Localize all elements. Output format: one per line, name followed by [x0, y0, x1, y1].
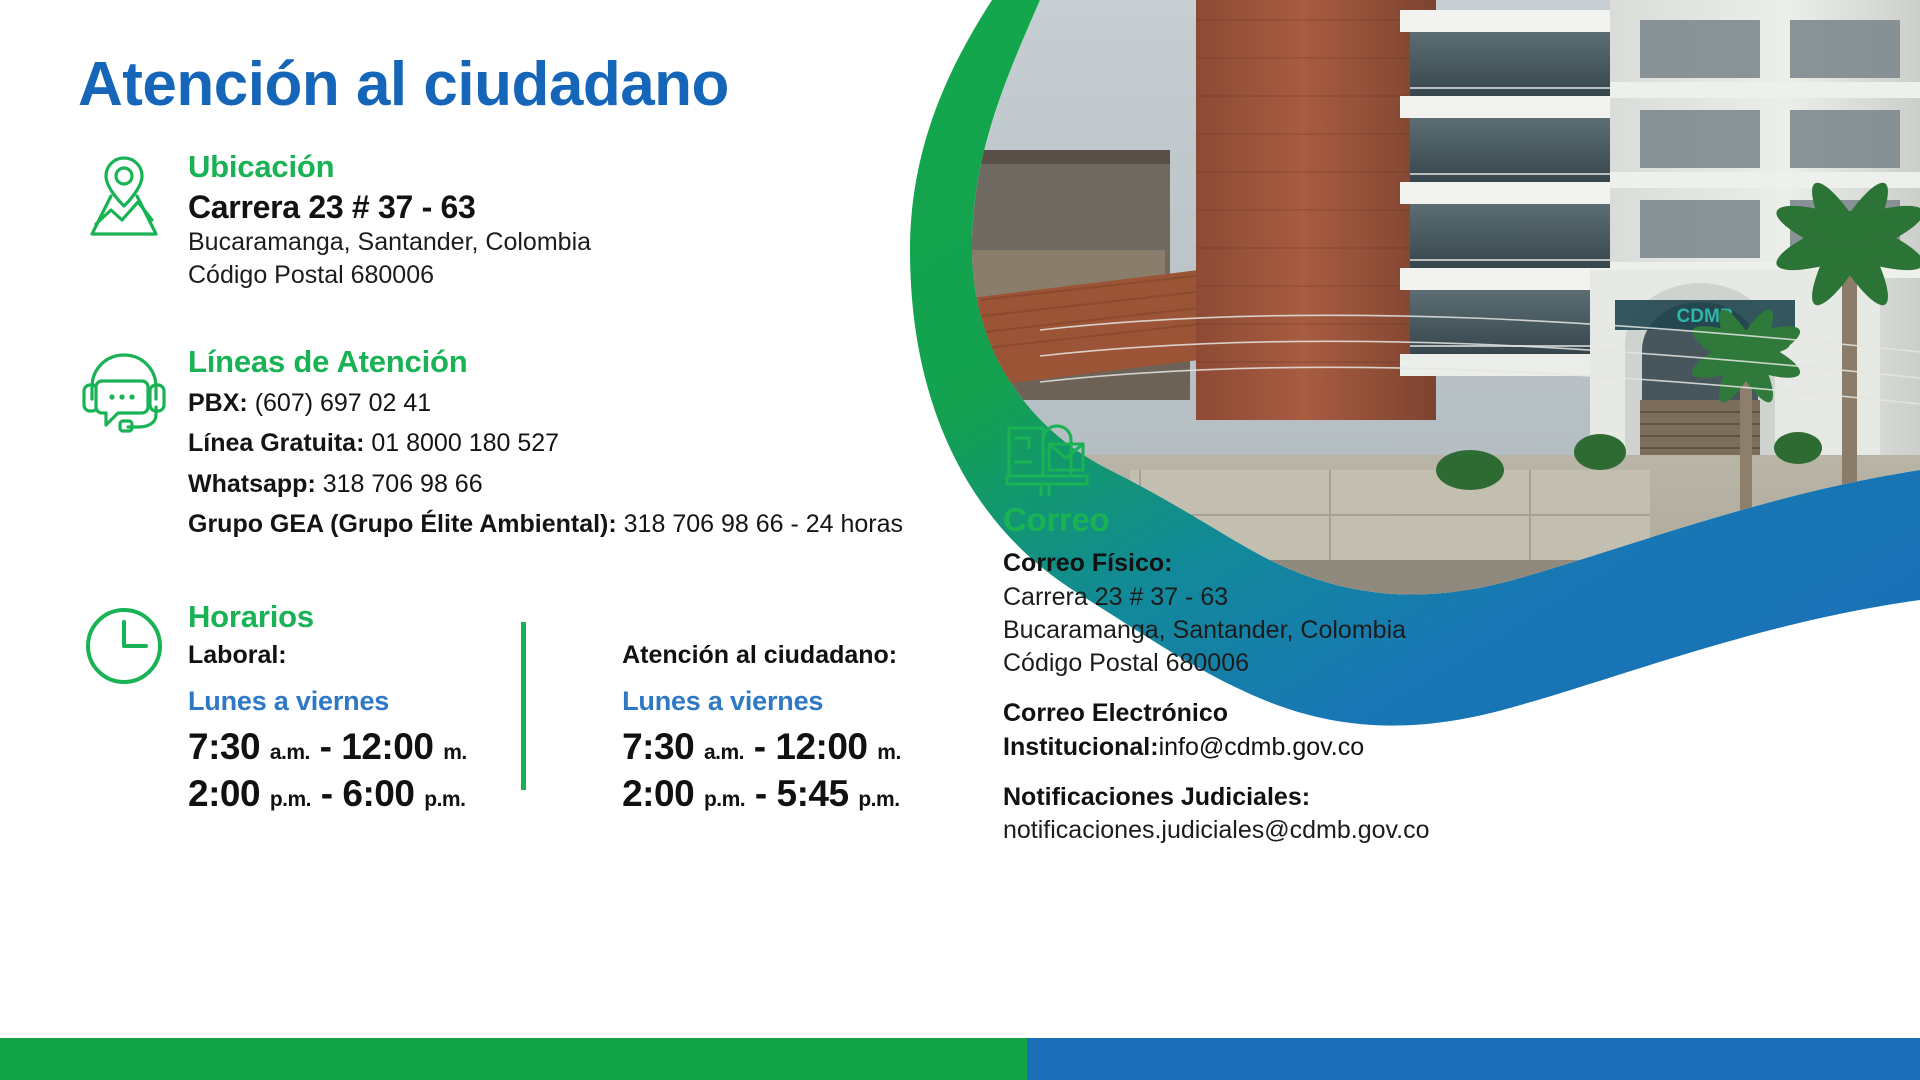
- correo-heading: Correo: [1003, 502, 1563, 538]
- time-start: 2:00: [622, 773, 694, 814]
- ubicacion-heading: Ubicación: [188, 150, 938, 185]
- linea-item: Whatsapp: 318 706 98 66: [188, 464, 1078, 505]
- time-start-meridiem: a.m.: [704, 741, 744, 764]
- linea-label: Grupo GEA (Grupo Élite Ambiental):: [188, 510, 617, 538]
- lineas-heading: Líneas de Atención: [188, 345, 1078, 380]
- linea-item: PBX: (607) 697 02 41: [188, 383, 1078, 424]
- horarios-heading: Horarios: [188, 600, 1018, 635]
- bottom-bar-green: [0, 1038, 1027, 1080]
- bottom-bar-blue: [1027, 1038, 1920, 1080]
- time-end: 6:00: [342, 773, 414, 814]
- correo-electronico-value[interactable]: info@cdmb.gov.co: [1159, 733, 1365, 761]
- time-start: 2:00: [188, 773, 260, 814]
- time-end: 5:45: [777, 773, 849, 814]
- correo-fisico-postal: Código Postal 680006: [1003, 647, 1563, 680]
- time-dash: -: [320, 726, 332, 767]
- linea-value: 318 706 98 66 - 24 horas: [624, 510, 903, 538]
- time-start-meridiem: p.m.: [704, 788, 745, 811]
- time-dash: -: [754, 726, 766, 767]
- time-end-meridiem: p.m.: [858, 788, 899, 811]
- content-layer: Atención al ciudadano Ubicación Carrera …: [0, 0, 1920, 1038]
- correo-electronico-sublabel: Institucional:: [1003, 733, 1159, 761]
- time-dash: -: [321, 773, 333, 814]
- spacer: [1003, 764, 1563, 781]
- map-pin-icon: [78, 150, 170, 242]
- correo-fisico-address: Carrera 23 # 37 - 63: [1003, 581, 1563, 614]
- horario-column-laboral: Laboral: Lunes a viernes 7:30 a.m. - 12:…: [188, 641, 562, 818]
- horario-days: Lunes a viernes: [188, 686, 562, 717]
- poster-root: CDMB: [0, 0, 1920, 1080]
- time-end: 12:00: [341, 726, 433, 767]
- horario-row: 7:30 a.m. - 12:00 m.: [622, 723, 1018, 770]
- bottom-bar: [0, 1038, 1920, 1080]
- ubicacion-postal: Código Postal 680006: [188, 259, 938, 292]
- page-title: Atención al ciudadano: [78, 52, 729, 117]
- ubicacion-city: Bucaramanga, Santander, Colombia: [188, 226, 938, 259]
- time-start-meridiem: a.m.: [270, 741, 310, 764]
- horario-row: 2:00 p.m. - 5:45 p.m.: [622, 770, 1018, 817]
- time-dash: -: [755, 773, 767, 814]
- correo-electronico-label: Correo Electrónico: [1003, 697, 1563, 730]
- time-start: 7:30: [622, 726, 694, 767]
- linea-label: Línea Gratuita:: [188, 429, 364, 457]
- time-end-meridiem: p.m.: [424, 788, 465, 811]
- horario-days: Lunes a viernes: [622, 686, 1018, 717]
- time-start: 7:30: [188, 726, 260, 767]
- section-horarios: Horarios Laboral: Lunes a viernes 7:30 a…: [78, 600, 1018, 817]
- time-end: 12:00: [775, 726, 867, 767]
- correo-electronico-row: Institucional:info@cdmb.gov.co: [1003, 731, 1563, 764]
- correo-fisico-city: Bucaramanga, Santander, Colombia: [1003, 614, 1563, 647]
- linea-value: (607) 697 02 41: [255, 389, 432, 417]
- linea-item: Línea Gratuita: 01 8000 180 527: [188, 423, 1078, 464]
- spacer: [1003, 680, 1563, 697]
- section-correo: Correo Correo Físico: Carrera 23 # 37 - …: [1003, 418, 1563, 847]
- notificaciones-value[interactable]: notificaciones.judiciales@cdmb.gov.co: [1003, 814, 1563, 847]
- horario-row: 2:00 p.m. - 6:00 p.m.: [188, 770, 562, 817]
- section-lineas-atencion: Líneas de Atención PBX: (607) 697 02 41 …: [78, 345, 1078, 545]
- linea-item: Grupo GEA (Grupo Élite Ambiental): 318 7…: [188, 504, 1078, 545]
- clock-icon: [78, 600, 170, 692]
- notificaciones-label: Notificaciones Judiciales:: [1003, 781, 1563, 814]
- correo-fisico-label: Correo Físico:: [1003, 547, 1563, 580]
- linea-label: Whatsapp:: [188, 470, 316, 498]
- linea-value: 01 8000 180 527: [371, 429, 559, 457]
- horario-column-title: Atención al ciudadano:: [622, 641, 1018, 670]
- headset-chat-icon: [78, 345, 170, 437]
- linea-value: 318 706 98 66: [323, 470, 483, 498]
- time-end-meridiem: m.: [443, 741, 467, 764]
- horario-row: 7:30 a.m. - 12:00 m.: [188, 723, 562, 770]
- ubicacion-address: Carrera 23 # 37 - 63: [188, 188, 938, 226]
- section-ubicacion: Ubicación Carrera 23 # 37 - 63 Bucaraman…: [78, 150, 938, 292]
- horarios-columns: Laboral: Lunes a viernes 7:30 a.m. - 12:…: [188, 641, 1018, 818]
- horario-column-title: Laboral:: [188, 641, 562, 670]
- time-end-meridiem: m.: [877, 741, 901, 764]
- mailbox-icon: [1003, 418, 1089, 496]
- horario-column-atencion: Atención al ciudadano: Lunes a viernes 7…: [562, 641, 1018, 818]
- time-start-meridiem: p.m.: [270, 788, 311, 811]
- linea-label: PBX:: [188, 389, 248, 417]
